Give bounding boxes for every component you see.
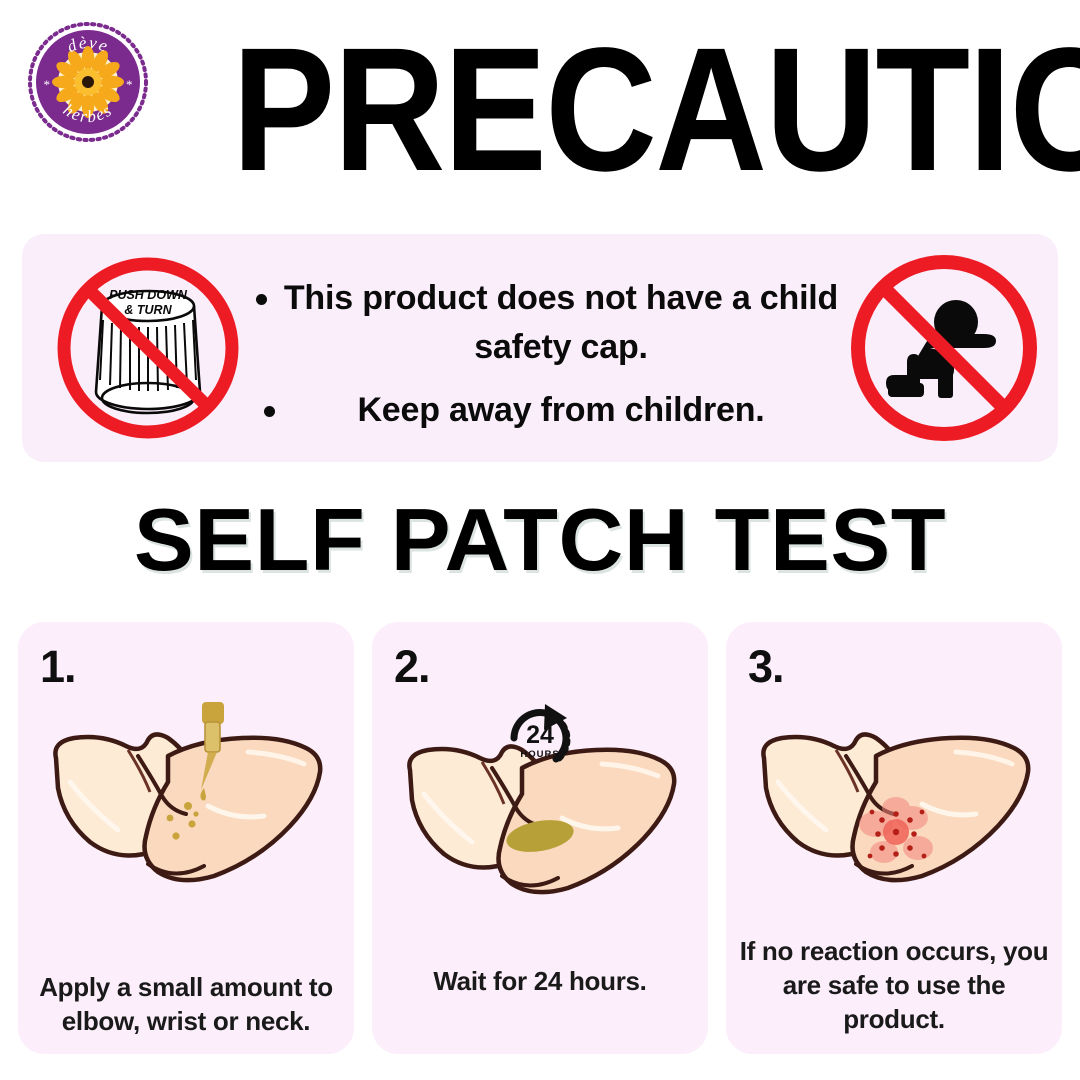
elbow-with-skin-reaction-illustration	[726, 696, 1062, 908]
cap-label-line1: PUSH DOWN	[109, 288, 188, 302]
badge-unit: HOURS	[520, 749, 559, 760]
svg-text:*: *	[126, 77, 133, 92]
step-number: 1.	[40, 644, 76, 689]
no-children-icon	[844, 250, 1044, 446]
badge-value: 24	[526, 721, 554, 749]
step-caption: Wait for 24 hours.	[384, 964, 696, 998]
svg-text:*: *	[44, 77, 51, 92]
elbow-with-24-hours-clock-illustration: 24 HOURS	[372, 696, 708, 908]
page-title: PRECAUTION	[232, 24, 795, 194]
step-number: 2.	[394, 644, 430, 689]
section-heading: SELF PATCH TEST	[0, 492, 1080, 588]
step-card-2: 2.	[372, 622, 708, 1054]
warning-item-label: This product does not have a child safet…	[284, 279, 838, 366]
warning-panel: PUSH DOWN & TURN This product does not h…	[22, 234, 1058, 462]
warning-text-list: This product does not have a child safet…	[250, 274, 878, 435]
step-caption: If no reaction occurs, you are safe to u…	[738, 934, 1050, 1036]
poster-header: * * dève herbes PRECAUTION	[0, 0, 1080, 210]
step-card-1: 1.	[18, 622, 354, 1054]
step-number: 3.	[748, 644, 784, 689]
deve-herbes-logo: * * dève herbes	[27, 21, 149, 143]
bullet-icon	[256, 294, 267, 305]
step-caption: Apply a small amount to elbow, wrist or …	[30, 970, 342, 1038]
precaution-poster: * * dève herbes PRECAUTION	[0, 0, 1080, 1080]
no-child-safety-cap-icon: PUSH DOWN & TURN	[50, 252, 246, 444]
cap-label-line2: & TURN	[124, 303, 172, 317]
step-card-3: 3.	[726, 622, 1062, 1054]
bullet-icon	[264, 406, 275, 417]
warning-item: Keep away from children.	[250, 386, 878, 435]
warning-item-label: Keep away from children.	[357, 391, 764, 429]
self-patch-test-steps: 1.	[18, 622, 1062, 1054]
elbow-with-dropper-illustration	[18, 696, 354, 908]
warning-item: This product does not have a child safet…	[250, 274, 878, 372]
